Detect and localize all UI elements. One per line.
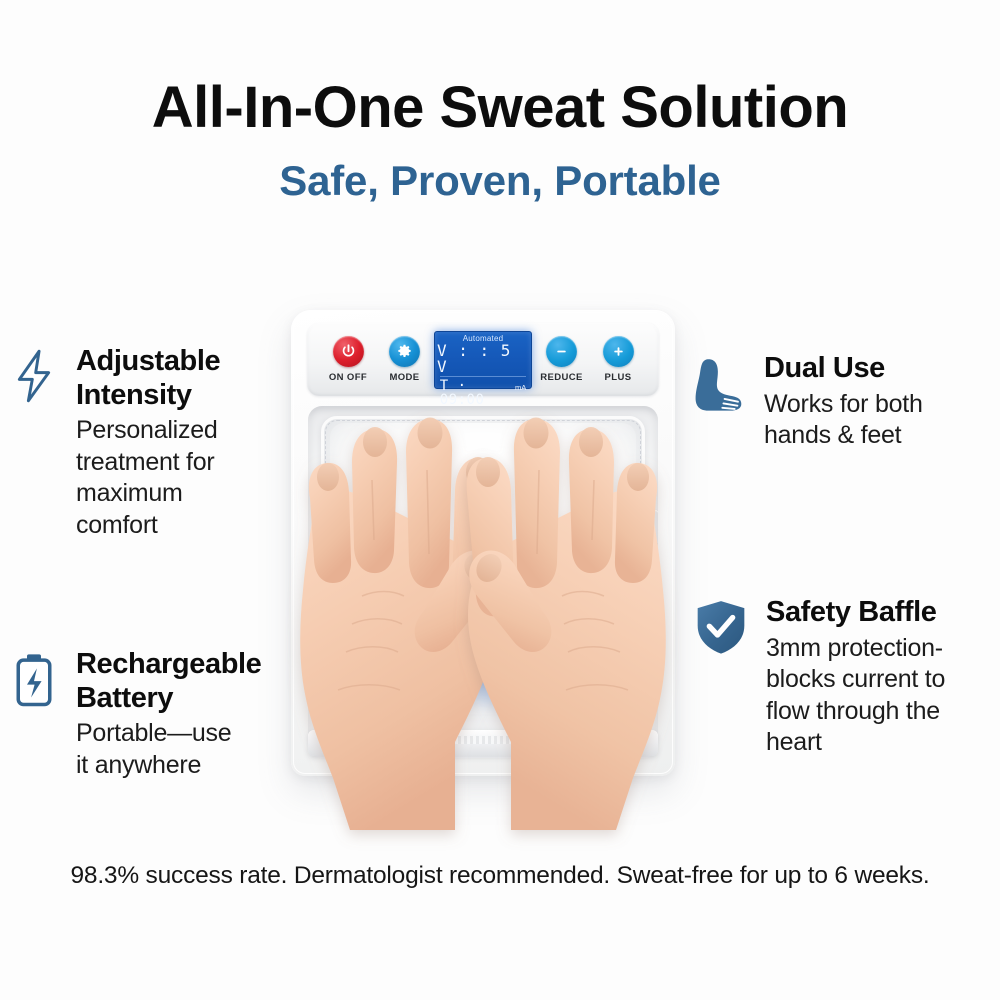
footer-claim-text: 98.3% success rate. Dermatologist recomm…: [0, 862, 1000, 890]
lcd-voltage-value: V : : 5 V: [437, 343, 529, 375]
callout-body: 3mm protection- blocks current to flow t…: [766, 633, 992, 759]
control-label-mode: MODE: [389, 372, 419, 383]
callout-text: Rechargeable Battery Portable—use it any…: [76, 648, 288, 781]
iontophoresis-device: ON OFF MODE Automated V : : 5 V T · 09:0…: [291, 310, 675, 776]
control-reduce[interactable]: REDUCE: [535, 336, 589, 383]
page-subtitle: Safe, Proven, Portable: [0, 158, 1000, 204]
callout-adjustable-intensity: Adjustable Intensity Personalized treatm…: [8, 345, 278, 541]
callout-text: Safety Baffle 3mm protection- blocks cur…: [766, 596, 992, 759]
callout-text: Adjustable Intensity Personalized treatm…: [76, 345, 278, 541]
lcd-timer-row: T · 09:00 mA: [440, 376, 526, 407]
control-label-on-off: ON OFF: [329, 372, 367, 383]
lcd-voltage-row: V : : 5 V: [437, 343, 529, 376]
callout-body: Personalized treatment for maximum comfo…: [76, 415, 278, 541]
control-on-off[interactable]: ON OFF: [321, 336, 375, 383]
callout-title: Safety Baffle: [766, 596, 992, 630]
power-button[interactable]: [333, 336, 364, 367]
reduce-button[interactable]: [546, 336, 577, 367]
callout-text: Dual Use Works for both hands & feet: [764, 352, 990, 452]
lcd-current-unit: mA: [515, 384, 526, 392]
control-panel: ON OFF MODE Automated V : : 5 V T · 09:0…: [307, 323, 659, 396]
callout-safety-baffle: Safety Baffle 3mm protection- blocks cur…: [692, 596, 992, 759]
foot-icon: [690, 352, 748, 412]
callout-title: Adjustable Intensity: [76, 345, 278, 412]
control-mode[interactable]: MODE: [378, 336, 432, 383]
pad-clip-bottom: [650, 652, 658, 686]
lcd-display: Automated V : : 5 V T · 09:00 mA: [434, 331, 532, 389]
power-icon: [340, 343, 357, 360]
shield-check-icon: [692, 596, 750, 656]
control-label-plus: PLUS: [605, 372, 632, 383]
battery-charging-icon: [8, 648, 60, 708]
callout-body: Works for both hands & feet: [764, 389, 990, 452]
callout-title: Dual Use: [764, 352, 990, 386]
gear-icon: [396, 343, 413, 360]
device-front-lip: [308, 730, 658, 756]
pad-clip-top: [650, 510, 658, 544]
page-title: All-In-One Sweat Solution: [0, 78, 1000, 139]
callout-title: Rechargeable Battery: [76, 648, 288, 715]
led-glow-strip: [463, 652, 558, 667]
callout-body: Portable—use it anywhere: [76, 718, 288, 781]
plus-icon: [610, 343, 627, 360]
plus-button[interactable]: [603, 336, 634, 367]
callout-dual-use: Dual Use Works for both hands & feet: [690, 352, 990, 452]
lcd-timer-value: T · 09:00: [440, 379, 513, 407]
control-label-reduce: REDUCE: [540, 372, 583, 383]
mode-button[interactable]: [389, 336, 420, 367]
control-plus[interactable]: PLUS: [591, 336, 645, 383]
minus-icon: [553, 343, 570, 360]
treatment-basin: [308, 406, 658, 758]
lightning-bolt-icon: [8, 345, 60, 405]
callout-rechargeable-battery: Rechargeable Battery Portable—use it any…: [8, 648, 288, 781]
